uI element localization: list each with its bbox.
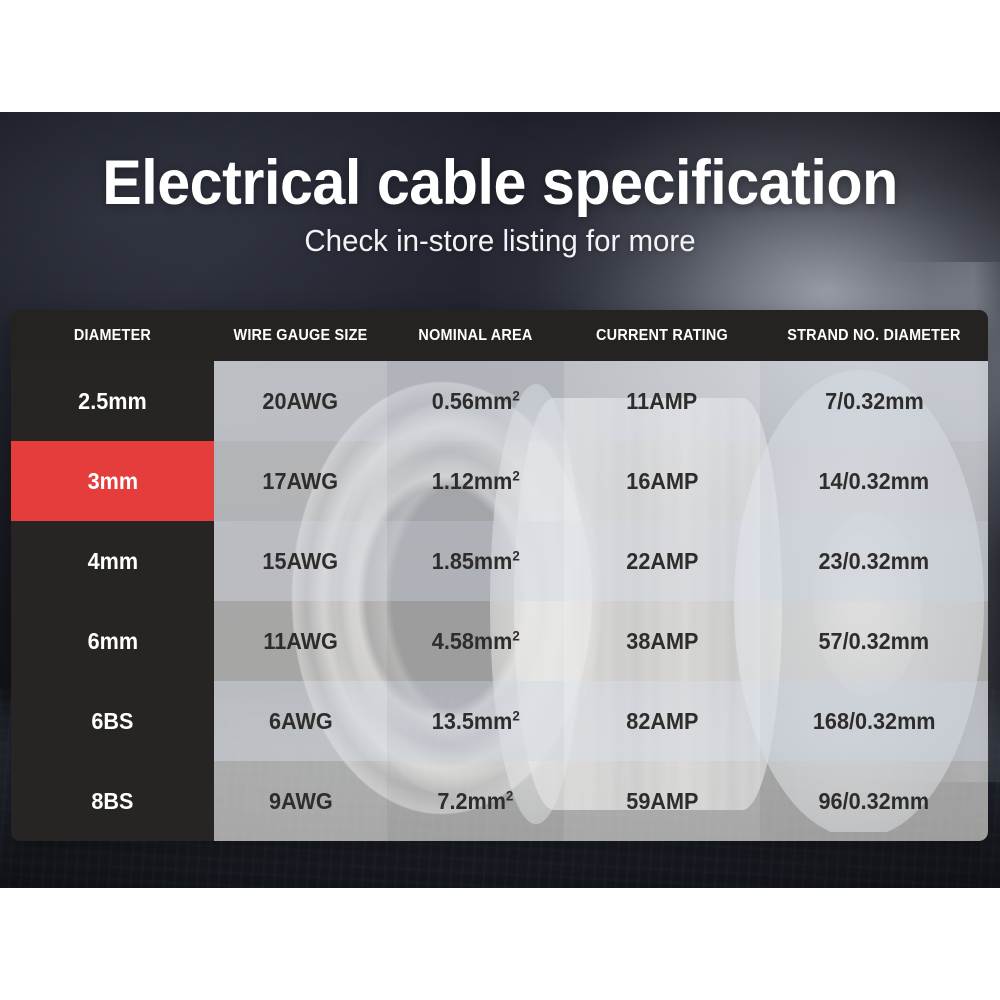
cell-diameter: 6BS bbox=[11, 681, 214, 761]
cell-strand-no-diameter: 23/0.32mm bbox=[760, 521, 988, 601]
cell-nominal-area: 7.2mm2 bbox=[387, 761, 564, 841]
cell-wire-gauge-size: 6AWG bbox=[214, 681, 387, 761]
column-header-wire-gauge-size: WIRE GAUGE SIZE bbox=[220, 310, 381, 361]
nominal-area-value: 13.5mm bbox=[431, 708, 512, 734]
cell-strand-no-diameter: 57/0.32mm bbox=[760, 601, 988, 681]
page-canvas: Electrical cable specification Check in-… bbox=[0, 0, 1000, 1000]
cell-diameter: 8BS bbox=[11, 761, 214, 841]
column-header-nominal-area: NOMINAL AREA bbox=[393, 310, 558, 361]
table-row: 2.5mm 20AWG 0.56mm2 11AMP 7/0.32mm bbox=[11, 361, 988, 441]
cell-current-rating: 59AMP bbox=[564, 761, 760, 841]
cell-current-rating: 22AMP bbox=[564, 521, 760, 601]
cell-current-rating: 16AMP bbox=[564, 441, 760, 521]
nominal-area-value: 7.2mm bbox=[438, 788, 507, 814]
page-subtitle: Check in-store listing for more bbox=[25, 225, 975, 256]
cell-current-rating: 82AMP bbox=[564, 681, 760, 761]
cell-nominal-area: 0.56mm2 bbox=[387, 361, 564, 441]
cell-wire-gauge-size: 17AWG bbox=[214, 441, 387, 521]
cell-wire-gauge-size: 20AWG bbox=[214, 361, 387, 441]
cell-strand-no-diameter: 96/0.32mm bbox=[760, 761, 988, 841]
product-spec-banner: Electrical cable specification Check in-… bbox=[0, 112, 1000, 888]
cell-nominal-area: 13.5mm2 bbox=[387, 681, 564, 761]
nominal-area-exponent: 2 bbox=[512, 628, 519, 644]
cell-nominal-area: 1.85mm2 bbox=[387, 521, 564, 601]
cell-wire-gauge-size: 9AWG bbox=[214, 761, 387, 841]
cell-nominal-area: 4.58mm2 bbox=[387, 601, 564, 681]
column-header-label: CURRENT RATING bbox=[596, 327, 728, 345]
table-row: 4mm 15AWG 1.85mm2 22AMP 23/0.32mm bbox=[11, 521, 988, 601]
table-header-row: DIAMETER WIRE GAUGE SIZE NOMINAL AREA CU… bbox=[11, 310, 988, 361]
cell-diameter: 6mm bbox=[11, 601, 214, 681]
column-header-strand-no-diameter: STRAND NO. DIAMETER bbox=[768, 310, 980, 361]
cell-strand-no-diameter: 7/0.32mm bbox=[760, 361, 988, 441]
nominal-area-exponent: 2 bbox=[512, 468, 519, 484]
nominal-area-value: 1.12mm bbox=[431, 468, 512, 494]
nominal-area-exponent: 2 bbox=[512, 548, 519, 564]
cell-strand-no-diameter: 14/0.32mm bbox=[760, 441, 988, 521]
nominal-area-exponent: 2 bbox=[512, 708, 519, 724]
cell-diameter: 4mm bbox=[11, 521, 214, 601]
table-row: 6mm 11AWG 4.58mm2 38AMP 57/0.32mm bbox=[11, 601, 988, 681]
nominal-area-exponent: 2 bbox=[506, 788, 513, 804]
heading-block: Electrical cable specification Check in-… bbox=[0, 152, 1000, 256]
nominal-area-value: 1.85mm bbox=[431, 548, 512, 574]
cell-wire-gauge-size: 15AWG bbox=[214, 521, 387, 601]
nominal-area-value: 0.56mm bbox=[431, 388, 512, 414]
cell-diameter: 3mm bbox=[11, 441, 214, 521]
cell-current-rating: 38AMP bbox=[564, 601, 760, 681]
cell-strand-no-diameter: 168/0.32mm bbox=[760, 681, 988, 761]
nominal-area-value: 4.58mm bbox=[431, 628, 512, 654]
cell-wire-gauge-size: 11AWG bbox=[214, 601, 387, 681]
cell-diameter: 2.5mm bbox=[11, 361, 214, 441]
column-header-label: STRAND NO. DIAMETER bbox=[787, 327, 960, 345]
cell-current-rating: 11AMP bbox=[564, 361, 760, 441]
nominal-area-exponent: 2 bbox=[512, 388, 519, 404]
table-row: 6BS 6AWG 13.5mm2 82AMP 168/0.32mm bbox=[11, 681, 988, 761]
cell-nominal-area: 1.12mm2 bbox=[387, 441, 564, 521]
table-row-highlighted: 3mm 17AWG 1.12mm2 16AMP 14/0.32mm bbox=[11, 441, 988, 521]
cable-specification-table: DIAMETER WIRE GAUGE SIZE NOMINAL AREA CU… bbox=[11, 310, 988, 841]
column-header-label: DIAMETER bbox=[74, 327, 151, 345]
page-title: Electrical cable specification bbox=[30, 152, 970, 215]
column-header-label: WIRE GAUGE SIZE bbox=[233, 327, 367, 345]
table-row: 8BS 9AWG 7.2mm2 59AMP 96/0.32mm bbox=[11, 761, 988, 841]
column-header-current-rating: CURRENT RATING bbox=[571, 310, 753, 361]
column-header-diameter: DIAMETER bbox=[18, 310, 207, 361]
column-header-label: NOMINAL AREA bbox=[418, 327, 532, 345]
